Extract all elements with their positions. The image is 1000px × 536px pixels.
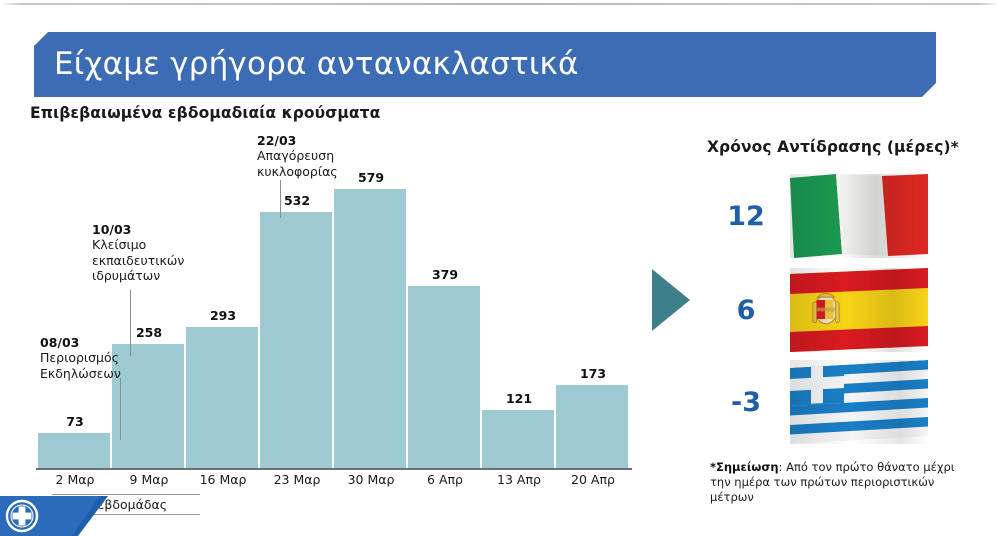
- slide-title: Είχαμε γρήγορα αντανακλαστικά: [54, 44, 914, 84]
- annotation-1003-line1: Κλείσιμο: [92, 237, 202, 253]
- reaction-days-greece: -3: [712, 356, 780, 448]
- x-axis-tick: 2 Μαρ: [38, 472, 112, 487]
- reaction-days-spain: 6: [712, 264, 780, 356]
- top-divider: [0, 3, 1000, 5]
- annotation-2203: 22/03 Απαγόρευση κυκλοφορίας: [257, 133, 357, 179]
- bar-column: 173: [556, 160, 630, 468]
- bar-value-label: 379: [408, 267, 482, 282]
- x-axis-tick: 13 Απρ: [482, 472, 556, 487]
- x-axis-tick: 20 Απρ: [556, 472, 630, 487]
- x-axis-tick-labels: 2 Μαρ9 Μαρ16 Μαρ23 Μαρ30 Μαρ6 Απρ13 Απρ2…: [38, 472, 630, 487]
- annotation-0803: 08/03 Περιορισμός Εκδηλώσεων: [40, 335, 132, 381]
- bar-value-label: 532: [260, 193, 334, 208]
- annotation-0803-leader-line: [120, 378, 121, 440]
- reaction-row-greece: -3: [712, 356, 992, 448]
- bar-series: 73258293532579379121173: [38, 160, 630, 468]
- x-axis-tick: 6 Απρ: [408, 472, 482, 487]
- reaction-days-italy: 12: [712, 170, 780, 262]
- right-triangle-arrow-icon: [652, 269, 690, 331]
- bar-value-label: 173: [556, 366, 630, 381]
- annotation-1003-leader-line: [130, 290, 131, 356]
- annotation-1003-line2: εκπαιδευτικών: [92, 253, 202, 269]
- annotation-0803-line2: Εκδηλώσεων: [40, 366, 132, 382]
- x-axis-tick: 9 Μαρ: [112, 472, 186, 487]
- flag-italy-icon: [790, 174, 928, 258]
- bar-column: 579: [334, 160, 408, 468]
- bar-column: 293: [186, 160, 260, 468]
- footnote-label: *Σημείωση: [710, 460, 779, 474]
- annotation-1003-line3: ιδρυμάτων: [92, 268, 202, 284]
- greek-government-emblem-icon: [0, 496, 108, 536]
- annotation-2203-leader-line: [280, 180, 281, 218]
- annotation-1003-date: 10/03: [92, 222, 202, 237]
- bar-column: 379: [408, 160, 482, 468]
- bar: [482, 410, 554, 468]
- footnote: *Σημείωση: Από τον πρώτο θάνατο μέχρι τη…: [710, 460, 978, 505]
- reaction-row-spain: 6: [712, 264, 992, 356]
- bar-value-label: 73: [38, 414, 112, 429]
- annotation-0803-line1: Περιορισμός: [40, 350, 132, 366]
- bar-column: 258: [112, 160, 186, 468]
- bar-value-label: 121: [482, 391, 556, 406]
- chart-heading: Επιβεβαιωμένα εβδομαδιαία κρούσματα: [30, 104, 380, 122]
- annotation-2203-line2: κυκλοφορίας: [257, 164, 357, 180]
- bar: [186, 327, 258, 468]
- right-panel-title: Χρόνος Αντίδρασης (μέρες)*: [707, 138, 959, 156]
- bar: [38, 433, 110, 468]
- bar-chart: 73258293532579379121173: [38, 160, 630, 468]
- bar: [408, 286, 480, 468]
- bar-column: 121: [482, 160, 556, 468]
- annotation-2203-line1: Απαγόρευση: [257, 148, 357, 164]
- x-axis-tick: 23 Μαρ: [260, 472, 334, 487]
- x-axis-tick: 30 Μαρ: [334, 472, 408, 487]
- bar-value-label: 293: [186, 308, 260, 323]
- slide-root: Είχαμε γρήγορα αντανακλαστικά Επιβεβαιωμ…: [0, 0, 1000, 532]
- bar-column: 73: [38, 160, 112, 468]
- x-axis-tick: 16 Μαρ: [186, 472, 260, 487]
- flag-spain-icon: [790, 268, 928, 352]
- bar: [260, 212, 332, 468]
- x-axis-line: [36, 468, 632, 470]
- annotation-2203-date: 22/03: [257, 133, 357, 148]
- bar-column: 532: [260, 160, 334, 468]
- bar: [334, 189, 406, 468]
- flag-greece-icon: [790, 360, 928, 444]
- reaction-row-italy: 12: [712, 170, 992, 262]
- annotation-0803-date: 08/03: [40, 335, 132, 350]
- annotation-1003: 10/03 Κλείσιμο εκπαιδευτικών ιδρυμάτων: [92, 222, 202, 284]
- bar: [556, 385, 628, 468]
